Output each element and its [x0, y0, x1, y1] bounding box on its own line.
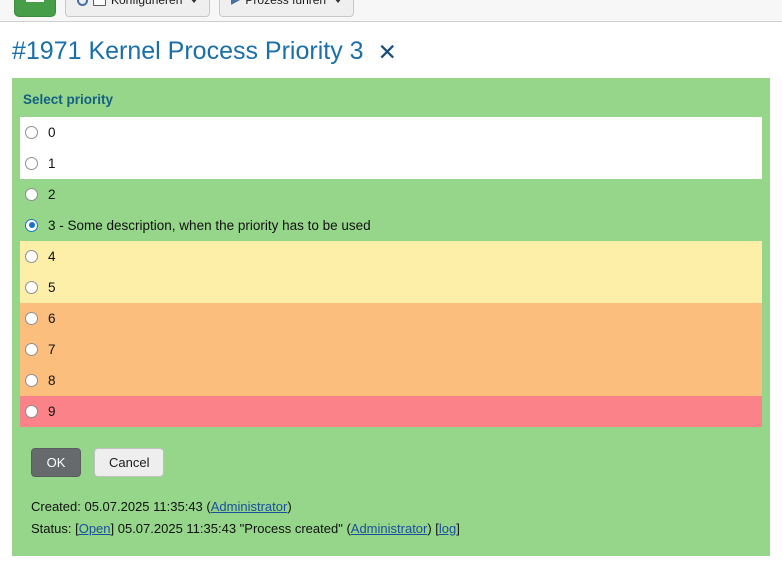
title-bar: #1971 Kernel Process Priority 3 ✕ — [0, 22, 782, 78]
priority-group-green: 23 - Some description, when the priority… — [20, 179, 762, 241]
run-process-button[interactable]: Prozess führen — [219, 0, 354, 17]
priority-option-label: 1 — [48, 156, 56, 171]
status-suffix: ] — [456, 521, 460, 536]
chevron-down-icon — [334, 0, 342, 3]
created-line: Created: 05.07.2025 11:35:43 (Administra… — [31, 499, 770, 521]
status-line: Status: [Open] 05.07.2025 11:35:43 "Proc… — [31, 521, 770, 543]
priority-option-0[interactable]: 0 — [20, 117, 762, 148]
menu-icon — [26, 0, 44, 2]
created-author-link[interactable]: Administrator — [211, 499, 288, 514]
priority-option-label: 2 — [48, 187, 56, 202]
priority-group-yellow: 45 — [20, 241, 762, 303]
status-author-link[interactable]: Administrator — [351, 521, 428, 536]
priority-option-label: 6 — [48, 311, 56, 326]
priority-option-label: 4 — [48, 249, 56, 264]
radio-0[interactable] — [25, 126, 38, 139]
radio-8[interactable] — [25, 374, 38, 387]
radio-6[interactable] — [25, 312, 38, 325]
priority-option-label: 5 — [48, 280, 56, 295]
top-toolbar: Konfigurieren Prozess führen — [0, 0, 782, 22]
priority-panel: Select priority 0123 - Some description,… — [12, 78, 770, 556]
configure-button[interactable]: Konfigurieren — [65, 0, 210, 17]
priority-option-label: 8 — [48, 373, 56, 388]
status-log-link[interactable]: log — [439, 521, 456, 536]
close-icon[interactable]: ✕ — [378, 41, 397, 64]
priority-option-5[interactable]: 5 — [20, 272, 762, 303]
priority-group-white: 01 — [20, 117, 762, 179]
priority-option-list: 0123 - Some description, when the priori… — [12, 117, 770, 427]
gear-icon — [77, 0, 88, 6]
priority-option-2[interactable]: 2 — [20, 179, 762, 210]
page-title: #1971 Kernel Process Priority 3 — [12, 38, 364, 66]
document-icon — [93, 0, 106, 6]
radio-2[interactable] — [25, 188, 38, 201]
priority-option-label: 7 — [48, 342, 56, 357]
panel-heading: Select priority — [12, 88, 770, 117]
cancel-button[interactable]: Cancel — [94, 448, 164, 477]
priority-group-orange: 678 — [20, 303, 762, 396]
radio-1[interactable] — [25, 157, 38, 170]
priority-option-6[interactable]: 6 — [20, 303, 762, 334]
radio-7[interactable] — [25, 343, 38, 356]
status-prefix: Status: [ — [31, 521, 79, 536]
priority-option-3[interactable]: 3 - Some description, when the priority … — [20, 210, 762, 241]
priority-option-4[interactable]: 4 — [20, 241, 762, 272]
priority-group-red: 9 — [20, 396, 762, 427]
dialog-actions: OK Cancel — [12, 427, 770, 477]
radio-3-selected[interactable] — [25, 219, 38, 232]
priority-option-9[interactable]: 9 — [20, 396, 762, 427]
radio-5[interactable] — [25, 281, 38, 294]
created-prefix: Created: 05.07.2025 11:35:43 ( — [31, 499, 211, 514]
status-middle: ] 05.07.2025 11:35:43 "Process created" … — [111, 521, 351, 536]
process-meta: Created: 05.07.2025 11:35:43 (Administra… — [12, 477, 770, 543]
priority-option-7[interactable]: 7 — [20, 334, 762, 365]
status-state-link[interactable]: Open — [79, 521, 111, 536]
menu-button[interactable] — [14, 0, 56, 17]
created-suffix: ) — [287, 499, 291, 514]
configure-button-label: Konfigurieren — [111, 0, 182, 7]
run-process-button-label: Prozess führen — [245, 0, 326, 7]
priority-option-label: 3 - Some description, when the priority … — [48, 218, 371, 233]
chevron-down-icon — [190, 0, 198, 3]
radio-9[interactable] — [25, 405, 38, 418]
status-between: ) [ — [427, 521, 439, 536]
priority-option-1[interactable]: 1 — [20, 148, 762, 179]
priority-option-label: 9 — [48, 404, 56, 419]
priority-option-label: 0 — [48, 125, 56, 140]
ok-button[interactable]: OK — [31, 448, 81, 477]
play-icon — [231, 0, 240, 5]
priority-option-8[interactable]: 8 — [20, 365, 762, 396]
radio-4[interactable] — [25, 250, 38, 263]
